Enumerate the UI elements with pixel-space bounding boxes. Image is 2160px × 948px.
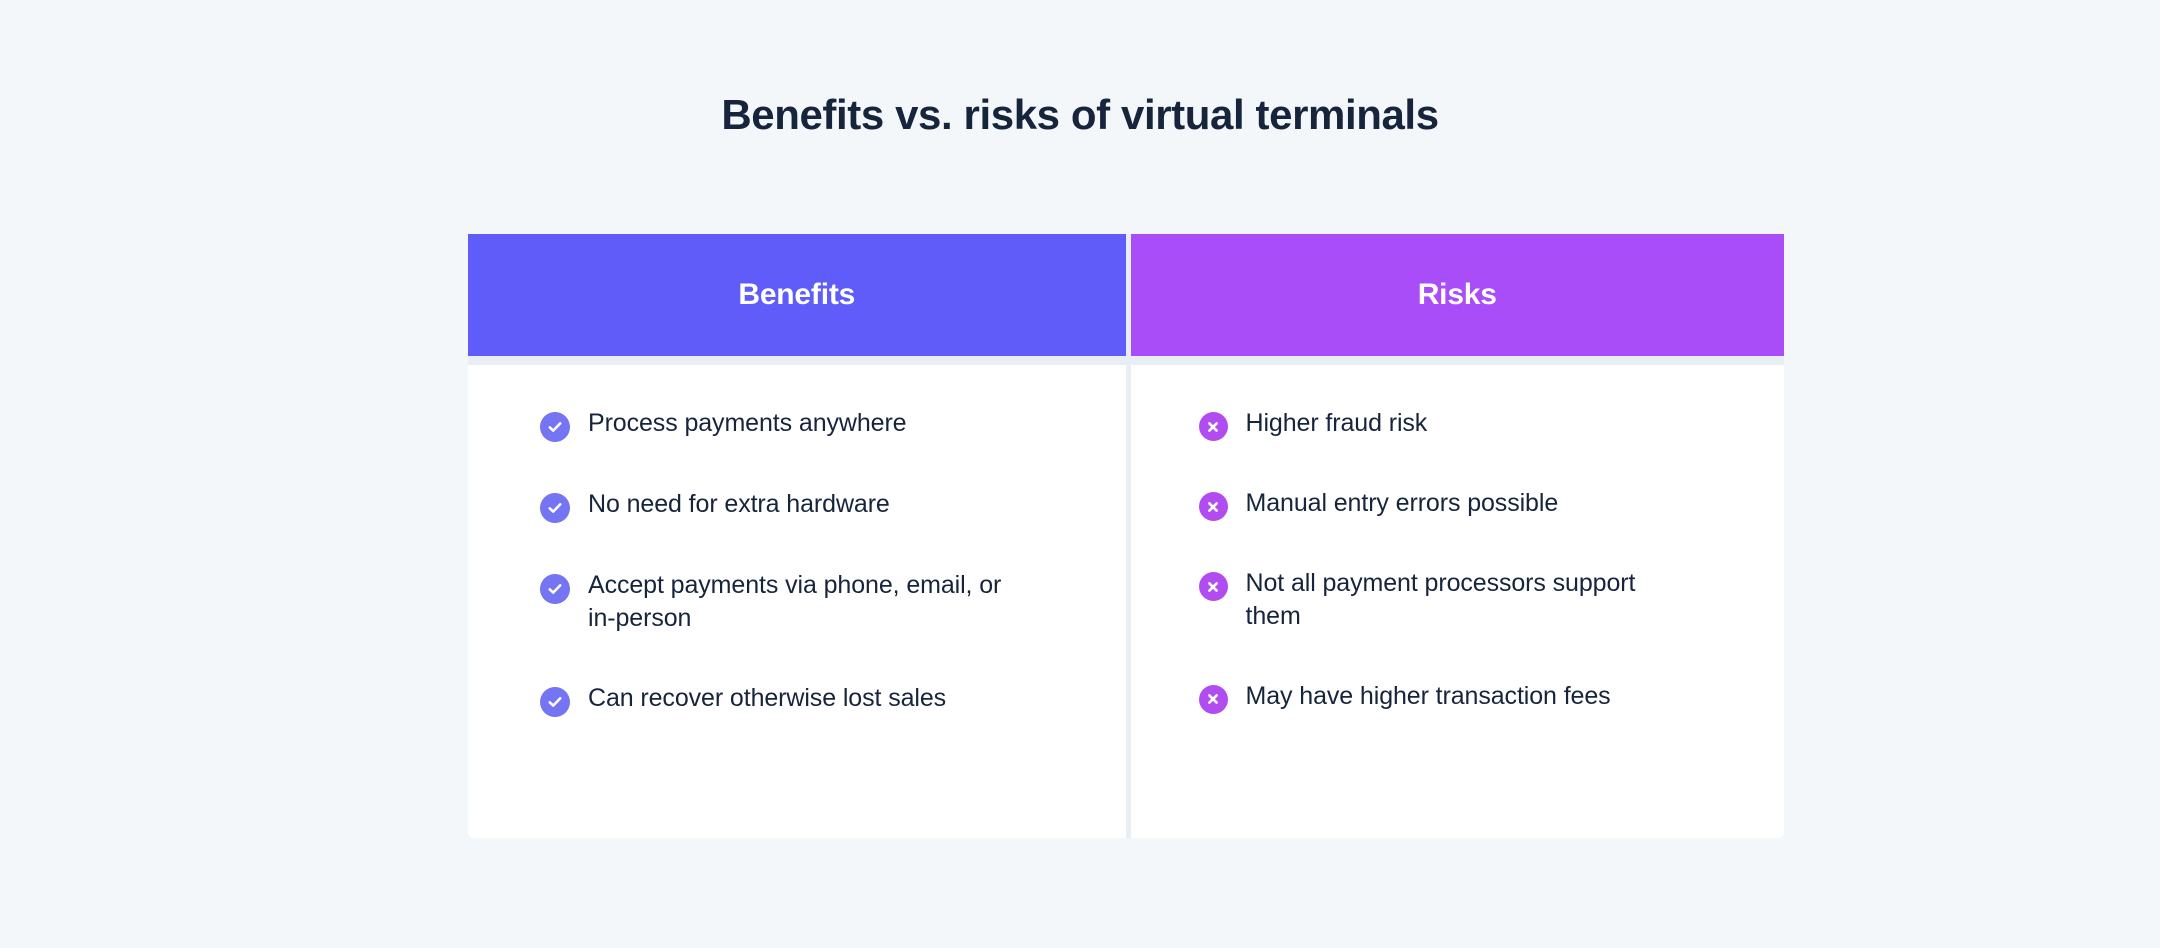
- list-item: Higher fraud risk: [1131, 407, 1785, 441]
- comparison-infographic: Benefits vs. risks of virtual terminals …: [0, 0, 2160, 948]
- list-item-label: Manual entry errors possible: [1246, 487, 1559, 520]
- list-item: Manual entry errors possible: [1131, 487, 1785, 521]
- list-item: Accept payments via phone, email, or in-…: [468, 569, 1126, 636]
- benefits-list: Process payments anywhere No need for ex…: [468, 407, 1126, 717]
- comparison-table: Benefits Process payments anywhere: [468, 234, 1784, 838]
- x-circle-icon: [1199, 572, 1228, 601]
- list-item-label: Can recover otherwise lost sales: [588, 682, 946, 715]
- list-item-label: May have higher transaction fees: [1246, 680, 1611, 713]
- check-circle-icon: [540, 412, 570, 442]
- list-item: May have higher transaction fees: [1131, 680, 1785, 714]
- check-circle-icon: [540, 687, 570, 717]
- list-item: Not all payment processors support them: [1131, 567, 1785, 634]
- list-item-label: Accept payments via phone, email, or in-…: [588, 569, 1018, 636]
- column-risks: Risks Higher fraud risk: [1131, 234, 1785, 838]
- check-circle-icon: [540, 574, 570, 604]
- list-item-label: Process payments anywhere: [588, 407, 906, 440]
- check-circle-icon: [540, 493, 570, 523]
- column-body-risks: Higher fraud risk Manual entry errors po…: [1131, 365, 1785, 838]
- header-body-gap: [1131, 356, 1785, 365]
- column-body-benefits: Process payments anywhere No need for ex…: [468, 365, 1126, 838]
- x-circle-icon: [1199, 412, 1228, 441]
- header-body-gap: [468, 356, 1126, 365]
- column-header-risks: Risks: [1131, 234, 1785, 356]
- x-circle-icon: [1199, 685, 1228, 714]
- list-item-label: Not all payment processors support them: [1246, 567, 1666, 634]
- list-item: Can recover otherwise lost sales: [468, 682, 1126, 717]
- column-benefits: Benefits Process payments anywhere: [468, 234, 1126, 838]
- list-item-label: Higher fraud risk: [1246, 407, 1428, 440]
- list-item: No need for extra hardware: [468, 488, 1126, 523]
- page-title: Benefits vs. risks of virtual terminals: [0, 90, 2160, 140]
- risks-list: Higher fraud risk Manual entry errors po…: [1131, 407, 1785, 714]
- list-item-label: No need for extra hardware: [588, 488, 890, 521]
- column-header-benefits: Benefits: [468, 234, 1126, 356]
- list-item: Process payments anywhere: [468, 407, 1126, 442]
- x-circle-icon: [1199, 492, 1228, 521]
